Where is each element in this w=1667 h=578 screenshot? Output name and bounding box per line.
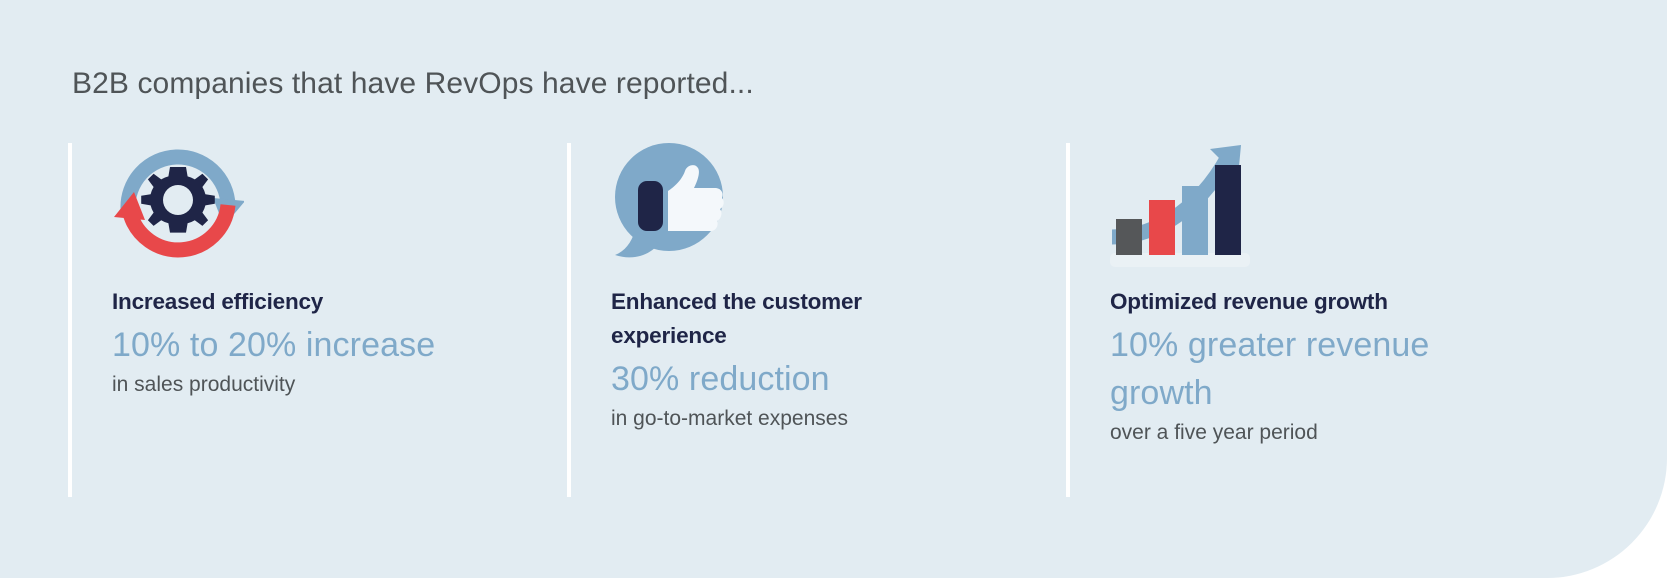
card-stat: 10% to 20% increase — [112, 321, 472, 369]
card-stat: 30% reduction — [611, 355, 971, 403]
stat-card-experience: Enhanced the customer experience 30% red… — [567, 143, 1037, 497]
page-title: B2B companies that have RevOps have repo… — [72, 67, 754, 101]
growth-bar-chart-icon — [1110, 143, 1536, 271]
card-caption: in go-to-market expenses — [611, 404, 1037, 433]
gear-cycle-icon — [112, 143, 538, 271]
card-stat: 10% greater revenue growth — [1110, 321, 1490, 418]
card-title: Increased efficiency — [112, 285, 472, 319]
stat-card-growth: Optimized revenue growth 10% greater rev… — [1066, 143, 1536, 497]
infographic-panel: B2B companies that have RevOps have repo… — [0, 0, 1667, 578]
card-caption: in sales productivity — [112, 370, 538, 399]
card-caption: over a five year period — [1110, 418, 1536, 447]
card-title: Optimized revenue growth — [1110, 285, 1470, 319]
stat-card-efficiency: Increased efficiency 10% to 20% increase… — [68, 143, 538, 497]
card-title: Enhanced the customer experience — [611, 285, 971, 353]
thumbs-up-bubble-icon — [611, 143, 1037, 271]
